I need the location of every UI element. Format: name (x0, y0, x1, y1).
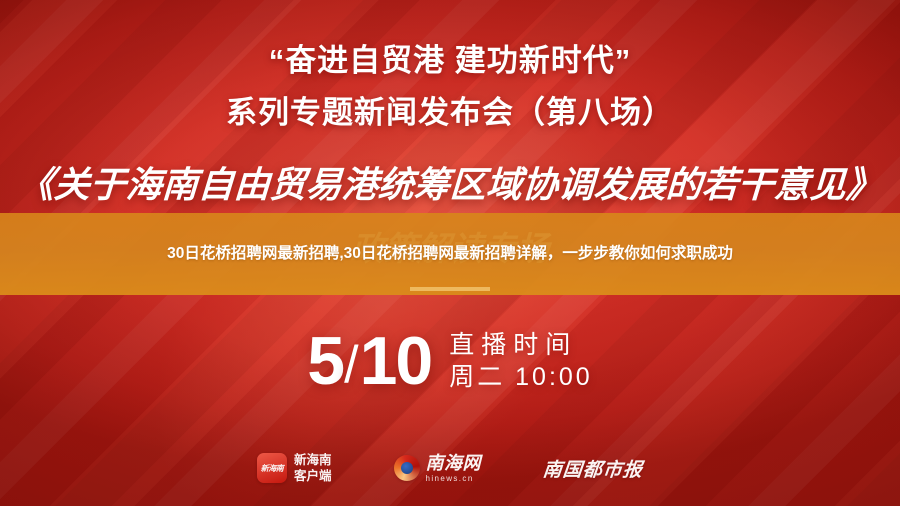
headline-slogan: “奋进自贸港 建功新时代” (0, 40, 900, 82)
broadcast-time-value: 周二 10:00 (447, 361, 593, 393)
article-caption-overlay: 30日花桥招聘网最新招聘,30日花桥招聘网最新招聘详解，一步步教你如何求职成功 (0, 213, 900, 295)
news-conference-poster: “奋进自贸港 建功新时代” 系列专题新闻发布会（第八场） 《关于海南自由贸易港统… (0, 0, 900, 506)
date-day: 5 (307, 327, 343, 395)
broadcast-time-column: 直播时间 周二 10:00 (447, 329, 593, 393)
caption-underline-rule (410, 287, 490, 291)
logo-nanguo-daily: 南国都市报 (543, 455, 643, 482)
logo-xinhainan-app: 新海南 新海南 客户端 (257, 452, 332, 484)
xinhainan-label: 新海南 客户端 (294, 452, 332, 484)
logo-hinews: 南海网 hinews.cn (394, 454, 482, 483)
broadcast-date: 5 / 10 (307, 327, 431, 395)
xinhainan-label-line1: 新海南 (294, 453, 332, 467)
nanguo-daily-wordmark: 南国都市报 (542, 455, 645, 482)
hinews-label-en: hinews.cn (426, 474, 482, 483)
xinhainan-mark-text: 新海南 (261, 463, 284, 474)
sponsor-logo-row: 新海南 新海南 客户端 南海网 hinews.cn 南国都市报 (0, 452, 900, 484)
hinews-label: 南海网 hinews.cn (426, 454, 482, 483)
date-month: 10 (360, 327, 432, 395)
article-caption-text: 30日花桥招聘网最新招聘,30日花桥招聘网最新招聘详解，一步步教你如何求职成功 (153, 241, 747, 266)
broadcast-time-label: 直播时间 (447, 329, 593, 361)
headline-series-title: 系列专题新闻发布会（第八场） (0, 92, 900, 134)
xinhainan-label-line2: 客户端 (294, 469, 332, 483)
hinews-swirl-icon (394, 455, 420, 481)
xinhainan-app-icon: 新海南 (257, 453, 287, 483)
headline-document-title: 《关于海南自由贸易港统筹区域协调发展的若干意见》 (0, 156, 900, 208)
broadcast-datetime-block: 5 / 10 直播时间 周二 10:00 (0, 327, 900, 395)
hinews-label-cn: 南海网 (426, 454, 482, 472)
date-separator: / (344, 339, 358, 391)
